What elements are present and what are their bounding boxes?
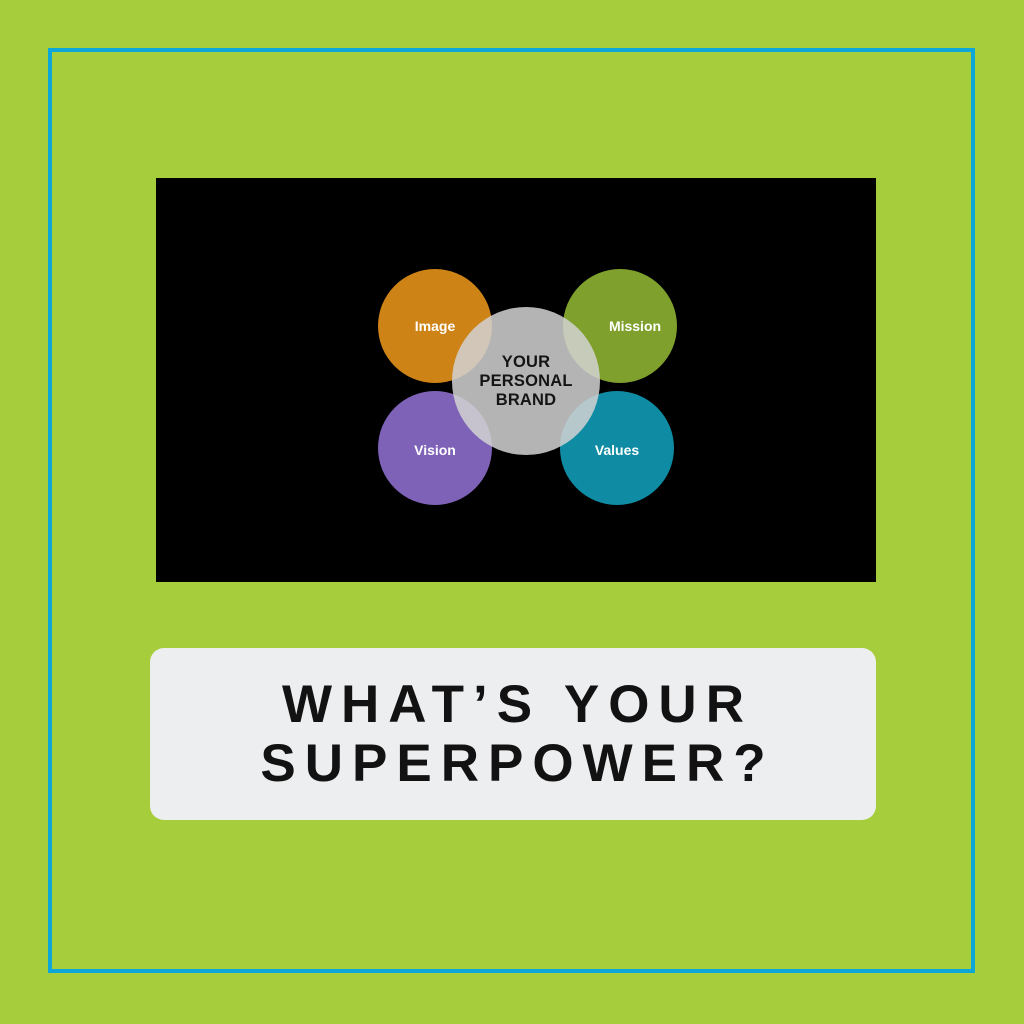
- venn-label-values: Values: [595, 442, 640, 458]
- venn-label-vision: Vision: [414, 442, 456, 458]
- venn-label-mission: Mission: [609, 318, 661, 334]
- headline-line-1: WHAT’S YOUR: [251, 675, 774, 734]
- headline-line-2: SUPERPOWER?: [251, 734, 774, 793]
- caption-card: WHAT’S YOUR SUPERPOWER?: [150, 648, 876, 820]
- venn-center-label-line1: YOUR: [502, 353, 550, 371]
- venn-center-label-line2: PERSONAL: [479, 372, 572, 390]
- media-panel: Image Mission Vision Values YOUR PERSONA…: [156, 178, 876, 582]
- poster-canvas: Image Mission Vision Values YOUR PERSONA…: [0, 0, 1024, 1024]
- venn-center-label-line3: BRAND: [496, 391, 557, 409]
- venn-label-image: Image: [415, 318, 456, 334]
- headline: WHAT’S YOUR SUPERPOWER?: [251, 675, 774, 794]
- venn-diagram: Image Mission Vision Values YOUR PERSONA…: [156, 178, 876, 582]
